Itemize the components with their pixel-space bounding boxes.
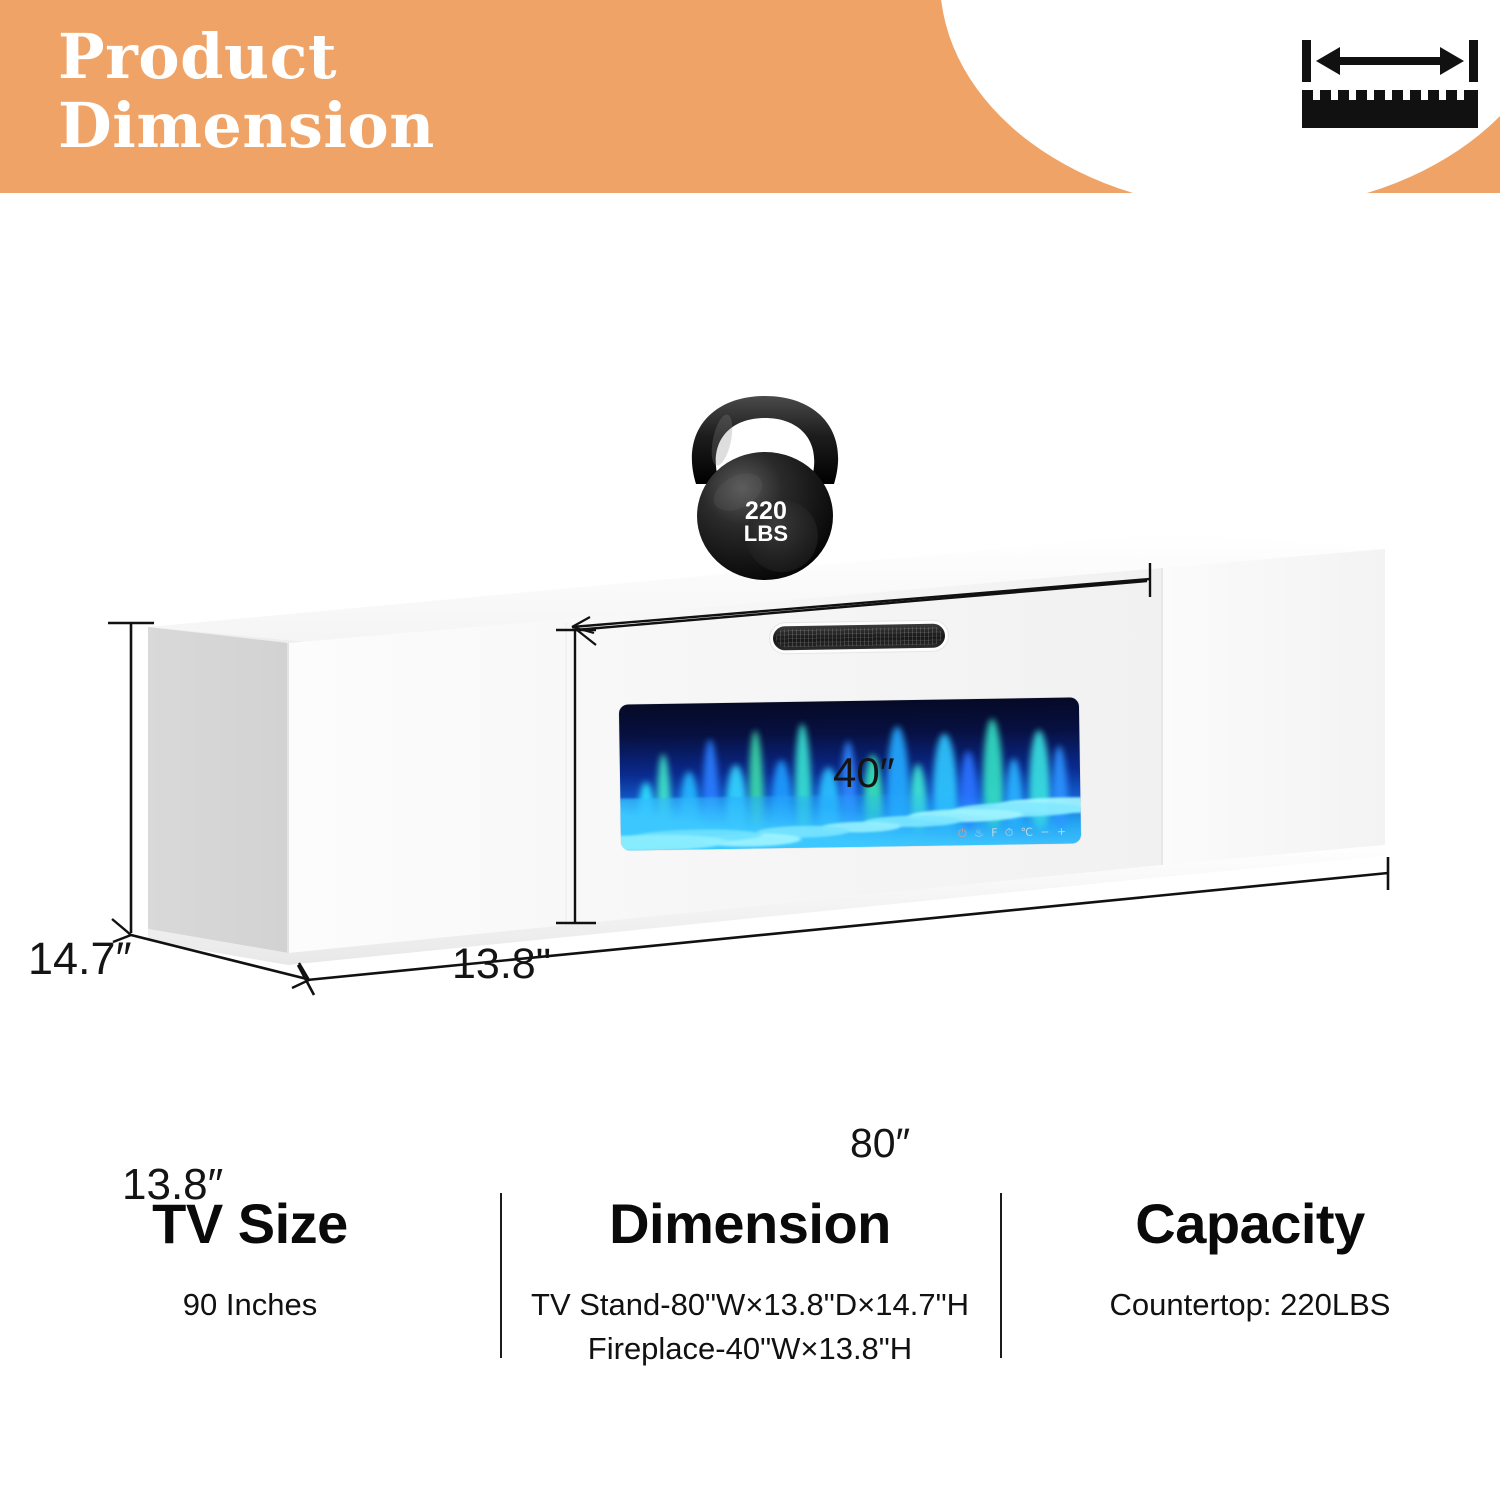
kettlebell-icon bbox=[660, 388, 870, 583]
dimension-label-fireplace-height: 13.8" bbox=[452, 940, 551, 989]
temp-icon[interactable]: ℃ bbox=[1021, 826, 1034, 837]
header-banner: Product Dimension bbox=[0, 0, 1500, 193]
spec-column-tv-size: TV Size 90 Inches bbox=[0, 1185, 500, 1415]
fireplace-vent-grille bbox=[773, 624, 945, 651]
page-title: Product Dimension bbox=[58, 22, 818, 161]
spec-values-tv-size: 90 Inches bbox=[183, 1283, 317, 1327]
ruler-measure-icon bbox=[1300, 38, 1480, 130]
fan-icon[interactable]: F bbox=[991, 827, 998, 838]
spec-line: Countertop: 220LBS bbox=[1110, 1283, 1391, 1327]
fireplace-control-panel[interactable]: ⏻ ♨ F ⏱ ℃ − + bbox=[958, 823, 1066, 841]
spec-summary-panel: TV Size 90 Inches Dimension TV Stand-80"… bbox=[0, 1185, 1500, 1415]
tv-stand-body bbox=[0, 193, 1500, 1193]
dimension-label-stand-height: 14.7″ bbox=[28, 933, 132, 985]
spec-line: TV Stand-80"W×13.8"D×14.7"H bbox=[531, 1283, 969, 1327]
plus-icon[interactable]: + bbox=[1057, 826, 1066, 837]
minus-icon[interactable]: − bbox=[1040, 826, 1049, 837]
spec-line: Fireplace-40"W×13.8"H bbox=[531, 1327, 969, 1371]
page-title-line-2: Dimension bbox=[58, 91, 818, 160]
page-title-line-1: Product bbox=[58, 22, 818, 91]
spec-column-dimension: Dimension TV Stand-80"W×13.8"D×14.7"H Fi… bbox=[500, 1185, 1000, 1415]
spec-line: 90 Inches bbox=[183, 1283, 317, 1327]
dimension-label-fireplace-width: 40″ bbox=[833, 749, 895, 797]
product-illustration: ⏻ ♨ F ⏱ ℃ − + bbox=[0, 193, 1500, 1193]
dimension-label-stand-width: 80″ bbox=[850, 1120, 910, 1167]
timer-icon[interactable]: ⏱ bbox=[1005, 826, 1014, 837]
spec-column-capacity: Capacity Countertop: 220LBS bbox=[1000, 1185, 1500, 1415]
spec-values-dimension: TV Stand-80"W×13.8"D×14.7"H Fireplace-40… bbox=[531, 1283, 969, 1371]
spec-title-capacity: Capacity bbox=[1135, 1193, 1364, 1255]
spec-title-tv-size: TV Size bbox=[152, 1193, 348, 1255]
ember-crystal-bed bbox=[619, 791, 1081, 850]
spec-values-capacity: Countertop: 220LBS bbox=[1110, 1283, 1391, 1327]
power-icon[interactable]: ⏻ bbox=[958, 827, 967, 838]
spec-title-dimension: Dimension bbox=[609, 1193, 891, 1255]
flame-icon[interactable]: ♨ bbox=[974, 827, 984, 838]
